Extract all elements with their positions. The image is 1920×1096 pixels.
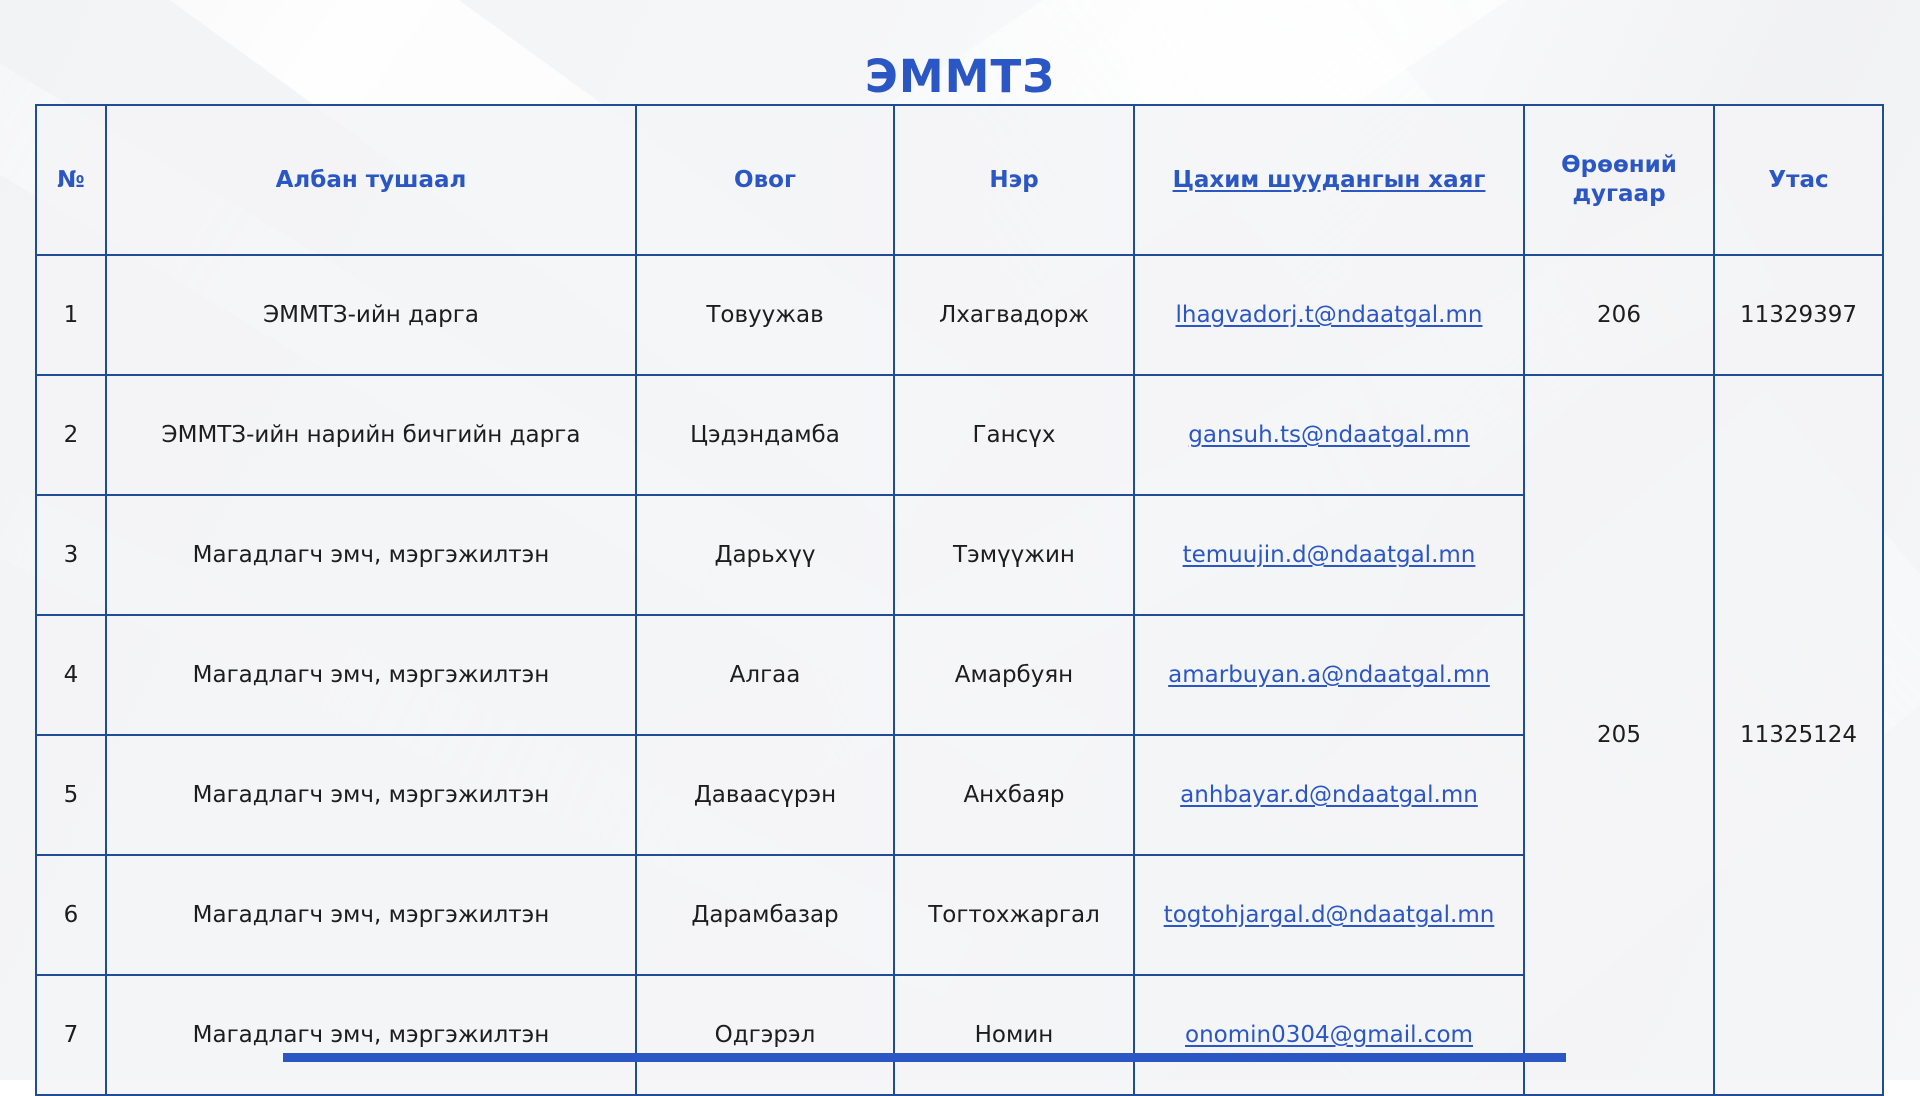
email-link[interactable]: temuujin.d@ndaatgal.mn: [1183, 542, 1476, 568]
email-link[interactable]: amarbuyan.a@ndaatgal.mn: [1168, 662, 1490, 688]
cell-firstname: Гансүх: [894, 375, 1134, 495]
cell-firstname: Тогтохжаргал: [894, 855, 1134, 975]
cell-room-number: 205: [1524, 375, 1714, 1095]
cell-firstname: Амарбуян: [894, 615, 1134, 735]
column-header-surname: Овог: [636, 105, 894, 255]
cell-firstname: Тэмүүжин: [894, 495, 1134, 615]
table-body: 1ЭММТЗ-ийн даргаТовуужавЛхагвадоржlhagva…: [36, 255, 1883, 1095]
table-header: № Албан тушаал Овог Нэр Цахим шуудангын …: [36, 105, 1883, 255]
column-header-position: Албан тушаал: [106, 105, 636, 255]
table-row: 2ЭММТЗ-ийн нарийн бичгийн даргаЦэдэндамб…: [36, 375, 1883, 495]
email-link[interactable]: onomin0304@gmail.com: [1185, 1022, 1473, 1048]
cell-number: 7: [36, 975, 106, 1095]
table-row: 1ЭММТЗ-ийн даргаТовуужавЛхагвадоржlhagva…: [36, 255, 1883, 375]
cell-surname: Цэдэндамба: [636, 375, 894, 495]
cell-email[interactable]: temuujin.d@ndaatgal.mn: [1134, 495, 1524, 615]
cell-email[interactable]: anhbayar.d@ndaatgal.mn: [1134, 735, 1524, 855]
cell-email[interactable]: amarbuyan.a@ndaatgal.mn: [1134, 615, 1524, 735]
cell-position: Магадлагч эмч, мэргэжилтэн: [106, 735, 636, 855]
cell-surname: Дарамбазар: [636, 855, 894, 975]
cell-email[interactable]: togtohjargal.d@ndaatgal.mn: [1134, 855, 1524, 975]
bottom-accent-bar: [283, 1053, 1566, 1062]
cell-email[interactable]: lhagvadorj.t@ndaatgal.mn: [1134, 255, 1524, 375]
cell-position: Магадлагч эмч, мэргэжилтэн: [106, 855, 636, 975]
cell-firstname: Номин: [894, 975, 1134, 1095]
cell-email[interactable]: onomin0304@gmail.com: [1134, 975, 1524, 1095]
cell-position: ЭММТЗ-ийн нарийн бичгийн дарга: [106, 375, 636, 495]
cell-surname: Товуужав: [636, 255, 894, 375]
staff-contact-table: № Албан тушаал Овог Нэр Цахим шуудангын …: [35, 104, 1884, 1096]
page-title: ЭММТЗ: [0, 50, 1920, 103]
cell-phone: 11329397: [1714, 255, 1883, 375]
column-header-number: №: [36, 105, 106, 255]
cell-number: 2: [36, 375, 106, 495]
column-header-phone: Утас: [1714, 105, 1883, 255]
cell-surname: Дарьхүү: [636, 495, 894, 615]
column-header-email: Цахим шуудангын хаяг: [1134, 105, 1524, 255]
cell-surname: Одгэрэл: [636, 975, 894, 1095]
cell-position: Магадлагч эмч, мэргэжилтэн: [106, 495, 636, 615]
cell-number: 5: [36, 735, 106, 855]
email-link[interactable]: anhbayar.d@ndaatgal.mn: [1180, 782, 1478, 808]
cell-position: Магадлагч эмч, мэргэжилтэн: [106, 615, 636, 735]
cell-room-number: 206: [1524, 255, 1714, 375]
cell-position: ЭММТЗ-ийн дарга: [106, 255, 636, 375]
email-link[interactable]: lhagvadorj.t@ndaatgal.mn: [1176, 302, 1483, 328]
cell-email[interactable]: gansuh.ts@ndaatgal.mn: [1134, 375, 1524, 495]
cell-phone: 11325124: [1714, 375, 1883, 1095]
cell-number: 4: [36, 615, 106, 735]
column-header-room: Өрөөний дугаар: [1524, 105, 1714, 255]
cell-number: 6: [36, 855, 106, 975]
cell-surname: Даваасүрэн: [636, 735, 894, 855]
email-link[interactable]: gansuh.ts@ndaatgal.mn: [1188, 422, 1469, 448]
cell-surname: Алгаа: [636, 615, 894, 735]
cell-firstname: Анхбаяр: [894, 735, 1134, 855]
cell-number: 1: [36, 255, 106, 375]
cell-number: 3: [36, 495, 106, 615]
column-header-firstname: Нэр: [894, 105, 1134, 255]
cell-firstname: Лхагвадорж: [894, 255, 1134, 375]
cell-position: Магадлагч эмч, мэргэжилтэн: [106, 975, 636, 1095]
email-link[interactable]: togtohjargal.d@ndaatgal.mn: [1164, 902, 1495, 928]
table-header-row: № Албан тушаал Овог Нэр Цахим шуудангын …: [36, 105, 1883, 255]
slide-content: ЭММТЗ № Албан тушаал Овог Нэр Цахим шууд…: [0, 0, 1920, 1080]
